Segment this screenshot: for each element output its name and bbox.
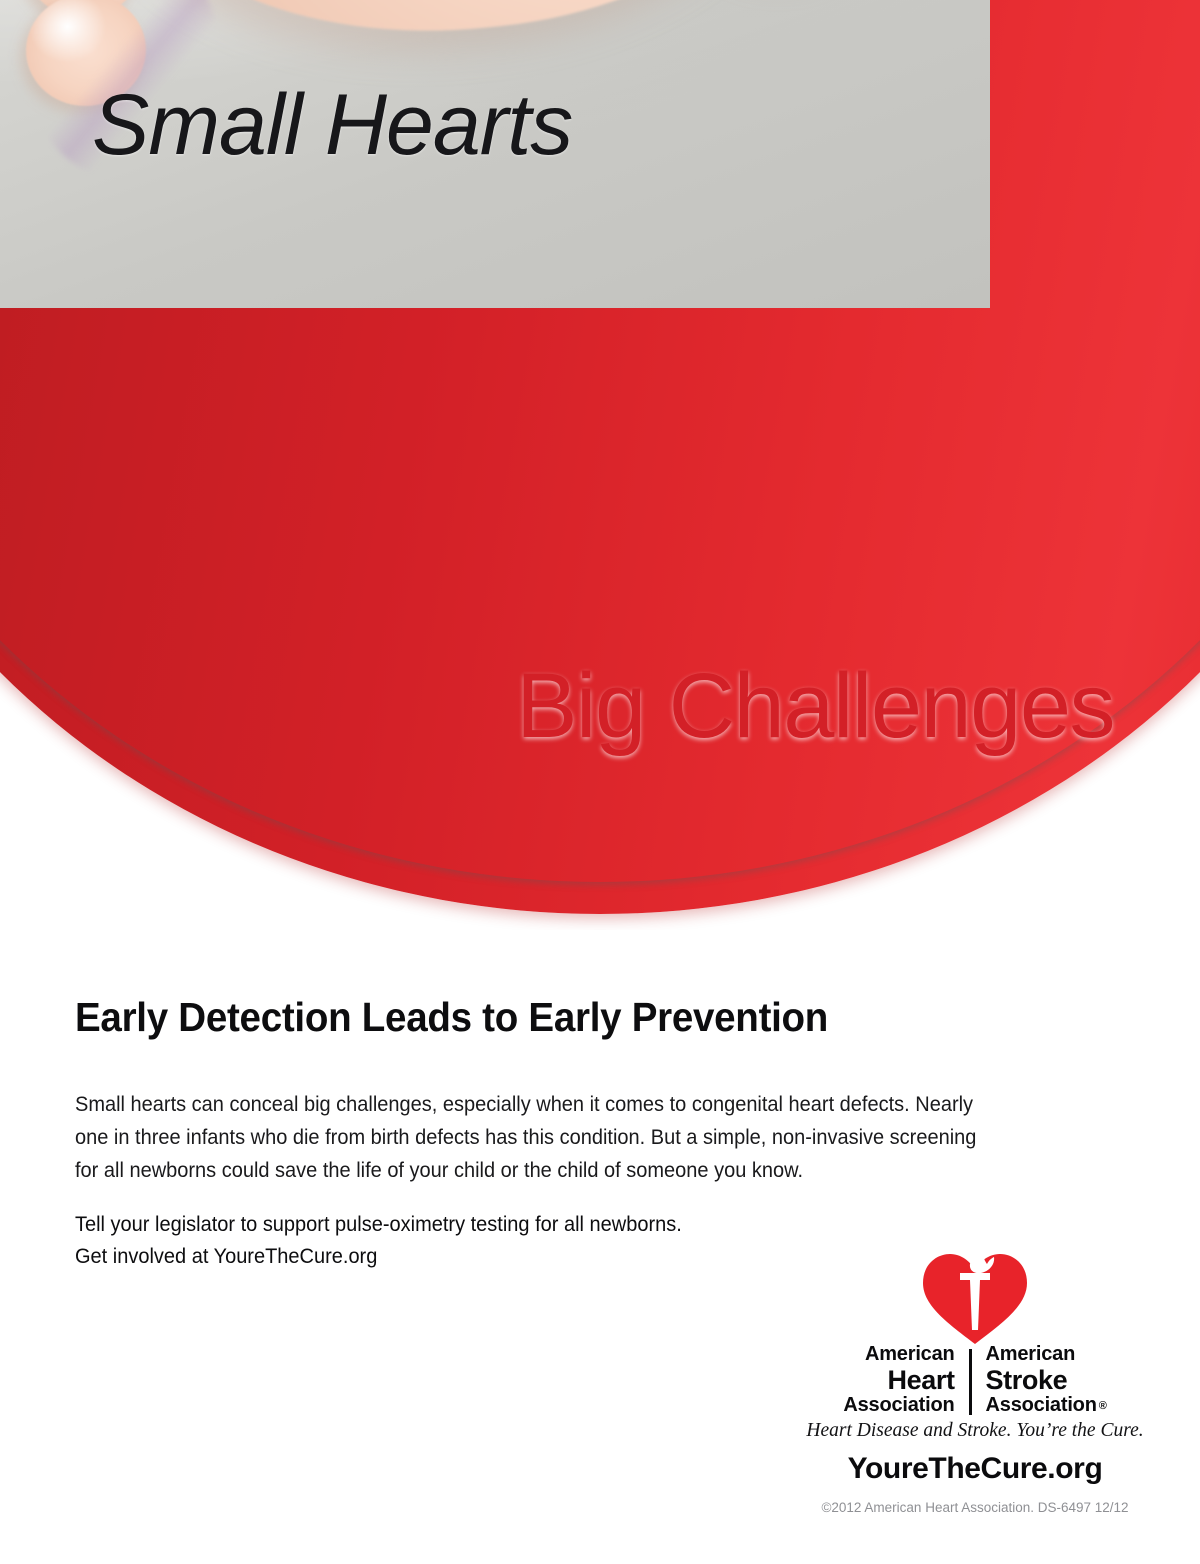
foot-heel-shading <box>610 0 890 18</box>
heart-torch-icon <box>915 1250 1035 1346</box>
body-paragraph: Small hearts can conceal big challenges,… <box>75 1088 996 1187</box>
call-to-action: Tell your legislator to support pulse-ox… <box>75 1208 912 1272</box>
aha-association-label: Association <box>843 1395 954 1417</box>
hero-section: Small Hearts Big Challenges <box>0 0 1200 930</box>
aha-logo-lockup: American Heart Association American Stro… <box>800 1344 1150 1417</box>
asa-association-label: Association® <box>986 1395 1107 1417</box>
page-headline: Early Detection Leads to Early Preventio… <box>75 994 828 1041</box>
poster-page: Small Hearts Big Challenges Early Detect… <box>0 0 1200 1564</box>
brand-tagline: Heart Disease and Stroke. You’re the Cur… <box>800 1420 1150 1442</box>
registered-mark-icon: ® <box>1099 1400 1107 1412</box>
aha-american-label: American <box>865 1344 955 1366</box>
asa-american-label: American <box>986 1344 1076 1366</box>
hero-title-big-challenges: Big Challenges <box>516 660 1114 752</box>
copyright-line: ©2012 American Heart Association. DS-649… <box>790 1500 1160 1515</box>
asa-association-text: Association <box>986 1394 1097 1416</box>
hero-title-small-hearts: Small Hearts <box>92 82 572 168</box>
campaign-url[interactable]: YoureTheCure.org <box>800 1452 1150 1486</box>
cta-line-1: Tell your legislator to support pulse-ox… <box>75 1208 912 1240</box>
aha-heart-column: American Heart Association <box>843 1344 968 1417</box>
aha-heart-label: Heart <box>888 1366 955 1396</box>
asa-stroke-column: American Stroke Association® <box>972 1344 1107 1417</box>
aha-logo: American Heart Association American Stro… <box>800 1250 1150 1417</box>
cta-line-2: Get involved at YoureTheCure.org <box>75 1240 912 1272</box>
asa-stroke-label: Stroke <box>986 1366 1068 1396</box>
